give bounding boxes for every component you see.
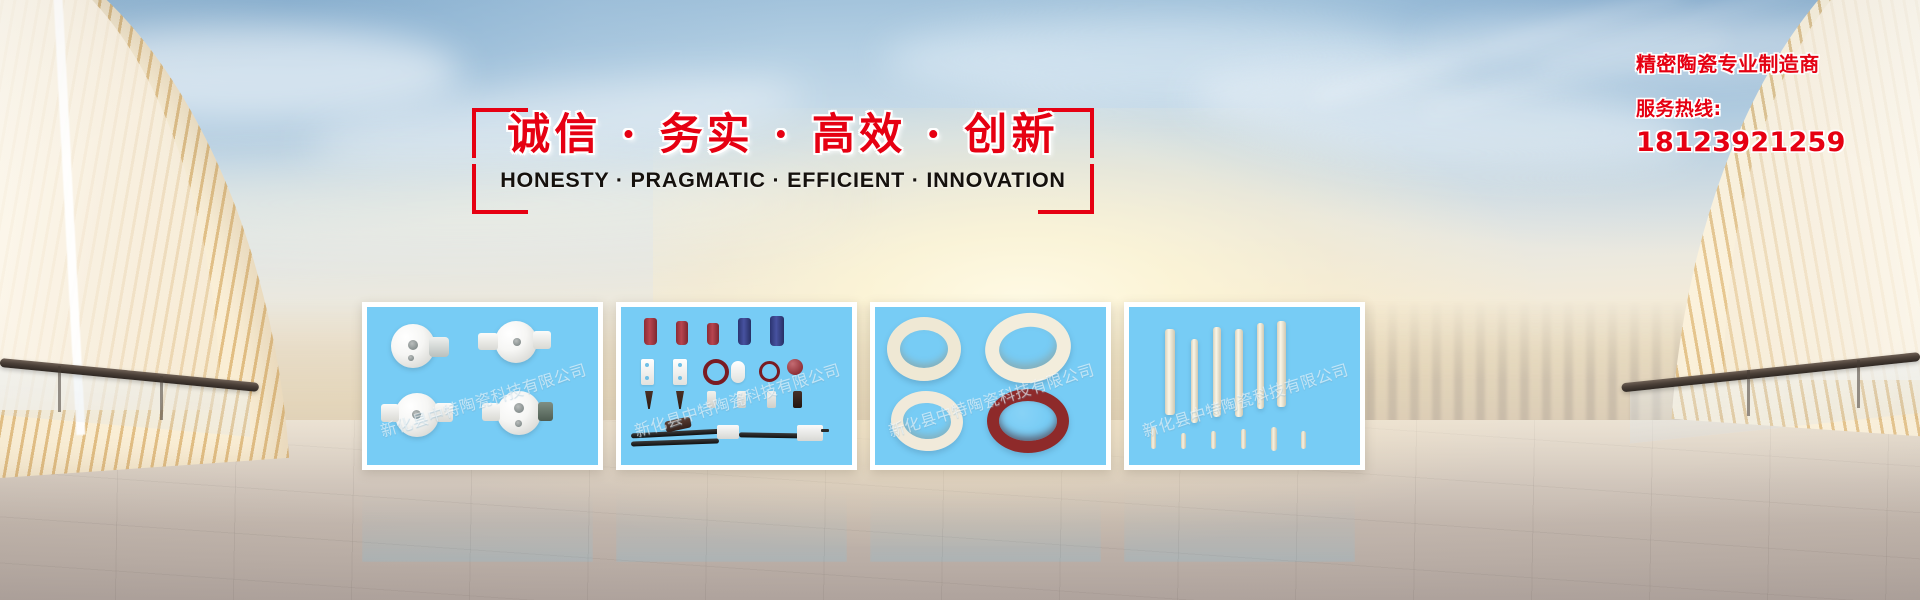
connector-pin — [821, 429, 829, 432]
ceramic-rod-small — [1241, 429, 1246, 449]
ceramic-plug — [645, 391, 653, 409]
socket-tab — [538, 402, 553, 421]
socket-tab — [482, 403, 500, 421]
ceramic-tube-blue — [770, 316, 784, 346]
ceramic-rod — [1235, 329, 1243, 417]
socket-stem — [429, 337, 449, 357]
socket-hole — [408, 340, 418, 350]
product-panel-ceramic-rods[interactable]: 新化县中特陶瓷科技有限公司 — [1124, 302, 1365, 470]
socket-hole — [408, 355, 414, 361]
ceramic-button — [787, 359, 803, 375]
ceramic-insert — [767, 391, 776, 408]
ceramic-insert — [737, 391, 746, 408]
ceramic-rod-small — [1301, 431, 1306, 449]
product-panel-ceramic-sockets[interactable]: 新化县中特陶瓷科技有限公司 — [362, 302, 603, 470]
product-panel-ceramic-rings[interactable]: 新化县中特陶瓷科技有限公司 — [870, 302, 1111, 470]
ceramic-rod-small — [1271, 427, 1277, 451]
hotline-phone-number[interactable]: 18123921259 — [1636, 127, 1886, 158]
ceramic-ring-large — [981, 307, 1076, 388]
ceramic-plug — [676, 391, 684, 409]
slogan-block: 诚信 · 务实 · 高效 · 创新 HONESTY · PRAGMATIC · … — [472, 108, 1094, 210]
ceramic-rod-small — [1211, 431, 1216, 449]
slogan-chinese: 诚信 · 务实 · 高效 · 创新 — [472, 100, 1094, 162]
socket-tab — [533, 331, 551, 349]
ceramic-tube-red — [644, 318, 657, 345]
ceramic-rod — [1257, 323, 1264, 409]
ceramic-tube-blue — [738, 318, 751, 345]
contact-block: 精密陶瓷专业制造商 服务热线: 18123921259 — [1636, 48, 1886, 158]
product-image-ceramic-rods: 新化县中特陶瓷科技有限公司 — [1129, 307, 1360, 465]
hero-banner: 诚信 · 务实 · 高效 · 创新 HONESTY · PRAGMATIC · … — [0, 0, 1920, 600]
ceramic-ring-large — [887, 317, 961, 381]
cable-connector — [717, 425, 739, 439]
ceramic-insert — [707, 391, 716, 408]
ceramic-disc — [731, 361, 745, 383]
product-image-ceramic-tubes: 新化县中特陶瓷科技有限公司 — [621, 307, 852, 465]
cable-connector — [797, 425, 823, 441]
hotline-label: 服务热线: — [1636, 94, 1886, 121]
ceramic-rod-small — [1181, 433, 1186, 449]
ceramic-ring-small — [703, 359, 729, 385]
ceramic-socket — [497, 391, 541, 435]
product-panel-ceramic-tubes[interactable]: 新化县中特陶瓷科技有限公司 — [616, 302, 857, 470]
ceramic-rod — [1191, 339, 1198, 423]
product-image-ceramic-sockets: 新化县中特陶瓷科技有限公司 — [367, 307, 598, 465]
socket-tab — [381, 404, 399, 422]
socket-hole — [515, 420, 522, 427]
ceramic-insert — [793, 391, 802, 408]
slogan-english: HONESTY · PRAGMATIC · EFFICIENT · INNOVA… — [472, 168, 1094, 193]
product-image-ceramic-rings: 新化县中特陶瓷科技有限公司 — [875, 307, 1106, 465]
socket-tab — [478, 333, 498, 350]
ceramic-plate — [673, 359, 687, 385]
ceramic-ring-red — [987, 389, 1069, 453]
socket-hole — [513, 338, 521, 346]
cable-assembly — [631, 438, 719, 446]
ceramic-tube-red — [676, 321, 688, 345]
ceramic-ring-small — [759, 361, 780, 382]
ceramic-tube-red — [707, 323, 719, 345]
ceramic-plate — [641, 359, 654, 385]
ceramic-ring-large — [889, 389, 965, 454]
ceramic-rod — [1213, 327, 1221, 417]
product-panel-row: 新化县中特陶瓷科技有限公司 — [0, 302, 1920, 412]
company-tagline: 精密陶瓷专业制造商 — [1636, 48, 1886, 77]
socket-hole — [514, 403, 524, 413]
ceramic-rod-small — [1151, 427, 1156, 449]
socket-tab — [435, 403, 453, 422]
ceramic-rod — [1165, 329, 1175, 415]
ceramic-rod — [1277, 321, 1286, 407]
socket-hole — [412, 410, 421, 419]
